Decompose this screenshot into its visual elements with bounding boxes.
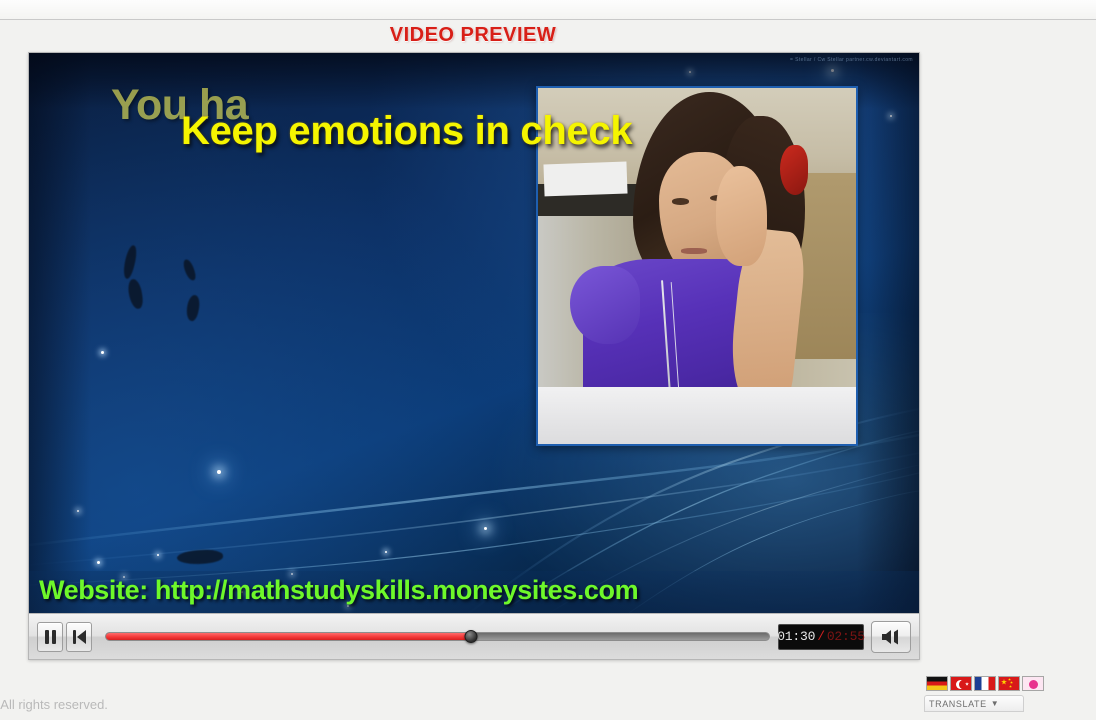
- flag-row: [924, 674, 1092, 693]
- star-sparkle: [157, 554, 159, 556]
- seek-track[interactable]: [105, 632, 770, 641]
- bird-silhouette: [127, 278, 144, 310]
- girl-hand: [716, 166, 767, 266]
- video-watermark: = Stellar / Cw Stellar partner.cw.devian…: [790, 57, 913, 63]
- star-sparkle: [77, 510, 79, 512]
- photo-desk: [538, 387, 856, 444]
- star-sparkle: [101, 351, 104, 354]
- flag-china[interactable]: [998, 676, 1020, 691]
- girl-hair-bow: [780, 145, 809, 195]
- seek-handle[interactable]: [464, 630, 477, 643]
- copyright-text: n 2013. All rights reserved.: [0, 697, 108, 712]
- skip-back-icon: [73, 630, 86, 644]
- video-player[interactable]: = Stellar / Cw Stellar partner.cw.devian…: [28, 52, 920, 660]
- star-sparkle: [97, 561, 100, 564]
- flag-france[interactable]: [974, 676, 996, 691]
- star-sparkle: [689, 71, 691, 73]
- star-sparkle: [484, 527, 487, 530]
- photo-papers: [544, 161, 628, 196]
- time-current: 01:30: [777, 629, 815, 644]
- chevron-down-icon: ▼: [991, 699, 1000, 708]
- pause-icon: [45, 630, 56, 644]
- previous-button[interactable]: [66, 622, 92, 652]
- time-total: 02:55: [827, 629, 865, 644]
- bird-silhouette: [176, 548, 223, 566]
- bird-silhouette: [184, 294, 201, 322]
- flag-turkey[interactable]: [950, 676, 972, 691]
- bird-silhouette: [182, 258, 197, 282]
- bird-silhouette: [121, 244, 139, 279]
- volume-button[interactable]: [871, 621, 911, 653]
- pause-button[interactable]: [37, 622, 63, 652]
- slide-website-text: Website: http://mathstudyskills.moneysit…: [39, 575, 638, 606]
- browser-top-strip: [0, 0, 1096, 20]
- page-root: VIDEO PREVIEW: [0, 0, 1096, 720]
- flag-japan[interactable]: [1022, 676, 1044, 691]
- slide-caption-current: Keep emotions in check: [181, 109, 632, 154]
- page-title: VIDEO PREVIEW: [0, 24, 946, 47]
- time-display: 01:30 / 02:55: [778, 624, 864, 650]
- seek-progress-fill: [106, 633, 471, 640]
- girl-mouth: [681, 248, 706, 254]
- flag-germany[interactable]: [926, 676, 948, 691]
- star-sparkle: [831, 69, 834, 72]
- translate-widget[interactable]: TRANSLATE ▼: [924, 674, 1092, 712]
- star-sparkle: [890, 115, 892, 117]
- video-stage[interactable]: = Stellar / Cw Stellar partner.cw.devian…: [29, 53, 919, 613]
- speaker-icon: [880, 629, 902, 645]
- translate-button[interactable]: TRANSLATE ▼: [924, 695, 1024, 712]
- star-sparkle: [217, 470, 221, 474]
- seek-bar[interactable]: [105, 622, 770, 652]
- star-sparkle: [385, 551, 387, 553]
- time-separator: /: [817, 629, 825, 644]
- girl-eye-left: [672, 198, 689, 204]
- girl-sleeve: [570, 266, 640, 344]
- player-controls: 01:30 / 02:55: [29, 613, 919, 659]
- slide-website-strip: Website: http://mathstudyskills.moneysit…: [29, 571, 919, 613]
- translate-label: TRANSLATE: [929, 699, 987, 709]
